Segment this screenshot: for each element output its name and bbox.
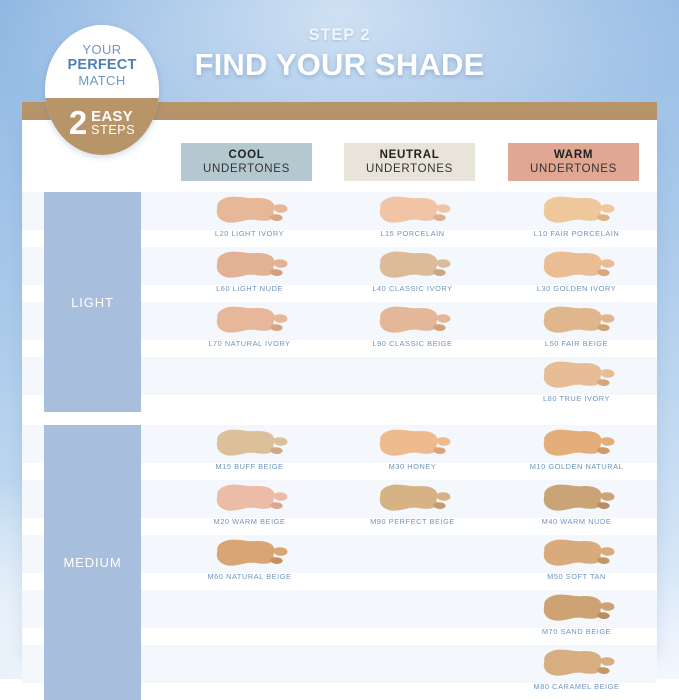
shade-cell[interactable]: L15 PORCELAINL15 PORCELAIN [331, 192, 494, 247]
shade-group-medium: MEDIUMM15 BUFF BEIGEM15 BUFF BEIGEM20 WA… [22, 425, 657, 700]
swatch-tail-lower [433, 324, 445, 331]
shade-swatch-graphic: L30 GOLDEN IVORY [536, 249, 618, 283]
shade-swatch-graphic: M30 HONEY [372, 427, 454, 461]
shade-cell[interactable]: M15 BUFF BEIGEM15 BUFF BEIGE [168, 425, 331, 480]
column-warm: L10 FAIR PORCELAINL10 FAIR PORCELAINL30 … [495, 192, 658, 412]
shade-name: L90 CLASSIC BEIGE [331, 339, 494, 348]
swatch-tail-upper [600, 204, 614, 212]
swatch-icon: L90 CLASSIC BEIGE [331, 302, 494, 340]
swatch-tail-lower [270, 269, 282, 276]
column-neutral: L15 PORCELAINL15 PORCELAINL40 CLASSIC IV… [331, 192, 494, 412]
swatch-body [543, 252, 601, 278]
shade-cell[interactable]: M40 WARM NUDEM40 WARM NUDE [495, 480, 658, 535]
shade-cell[interactable]: L30 GOLDEN IVORYL30 GOLDEN IVORY [495, 247, 658, 302]
swatch-tail-lower [597, 667, 609, 674]
swatch-body [379, 430, 437, 456]
shade-cell[interactable]: M70 SAND BEIGEM70 SAND BEIGE [495, 590, 658, 645]
shade-swatch-graphic: M60 NATURAL BEIGE [209, 537, 291, 571]
shade-swatch-graphic: L10 FAIR PORCELAIN [536, 194, 618, 228]
swatch-icon: L50 FAIR BEIGE [495, 302, 658, 340]
perfect-match-badge: YOUR PERFECT MATCH 2 EASY STEPS [45, 25, 159, 155]
shade-group-light: LIGHTL20 LIGHT IVORYL20 LIGHT IVORYL60 L… [22, 192, 657, 412]
shade-cell[interactable]: M50 SOFT TANM50 SOFT TAN [495, 535, 658, 590]
badge-top-half: YOUR PERFECT MATCH [45, 25, 159, 98]
swatch-body [543, 430, 601, 456]
shade-cell[interactable]: L80 TRUE IVORYL80 TRUE IVORY [495, 357, 658, 412]
shade-name: L70 NATURAL IVORY [168, 339, 331, 348]
swatch-tail-upper [273, 259, 287, 267]
badge-bottom-half: 2 EASY STEPS [45, 98, 159, 155]
swatch-tail-lower [433, 502, 445, 509]
swatch-icon: M40 WARM NUDE [495, 480, 658, 518]
shade-name: M30 HONEY [331, 462, 494, 471]
shade-cell[interactable]: M20 WARM BEIGEM20 WARM BEIGE [168, 480, 331, 535]
swatch-body [543, 540, 601, 566]
undertone-header-warm: WARM UNDERTONES [508, 143, 639, 181]
swatch-icon: M70 SAND BEIGE [495, 590, 658, 628]
swatch-icon: M50 SOFT TAN [495, 535, 658, 573]
swatch-tail-upper [600, 369, 614, 377]
swatch-tail-lower [270, 214, 282, 221]
shade-swatch-graphic: M90 PERFECT BEIGE [372, 482, 454, 516]
swatch-tail-lower [597, 557, 609, 564]
swatch-tail-upper [273, 437, 287, 445]
shade-name: M60 NATURAL BEIGE [168, 572, 331, 581]
shade-name: M10 GOLDEN NATURAL [495, 462, 658, 471]
shade-name: L40 CLASSIC IVORY [331, 284, 494, 293]
swatch-body [543, 362, 601, 388]
column-neutral: M30 HONEYM30 HONEYM90 PERFECT BEIGEM90 P… [331, 425, 494, 700]
shade-name: L10 FAIR PORCELAIN [495, 229, 658, 238]
swatch-tail-lower [597, 612, 609, 619]
shade-swatch-graphic: M20 WARM BEIGE [209, 482, 291, 516]
swatch-tail-upper [273, 547, 287, 555]
shade-swatch-graphic: L15 PORCELAIN [372, 194, 454, 228]
undertone-neutral-subtitle: UNDERTONES [366, 162, 453, 176]
swatch-tail-lower [433, 447, 445, 454]
shade-swatch-graphic: L40 CLASSIC IVORY [372, 249, 454, 283]
swatch-tail-upper [273, 314, 287, 322]
swatch-icon: M80 CARAMEL BEIGE [495, 645, 658, 683]
swatch-tail-lower [270, 324, 282, 331]
infographic-canvas: STEP 2 FIND YOUR SHADE COOL UNDERTONES N… [0, 0, 679, 679]
swatch-tail-lower [597, 502, 609, 509]
undertone-header-cool: COOL UNDERTONES [181, 143, 312, 181]
swatch-body [543, 307, 601, 333]
badge-easy-text: EASY [91, 109, 133, 124]
swatch-tail-upper [600, 492, 614, 500]
swatch-icon: L60 LIGHT NUDE [168, 247, 331, 285]
column-warm: M10 GOLDEN NATURALM10 GOLDEN NATURALM40 … [495, 425, 658, 700]
badge-your-text: YOUR [82, 43, 121, 58]
swatch-icon: L20 LIGHT IVORY [168, 192, 331, 230]
swatch-icon: L15 PORCELAIN [331, 192, 494, 230]
shade-swatch-graphic: M40 WARM NUDE [536, 482, 618, 516]
swatch-icon: L10 FAIR PORCELAIN [495, 192, 658, 230]
badge-steps-text: STEPS [91, 124, 135, 137]
swatch-body [216, 430, 274, 456]
column-cool: L20 LIGHT IVORYL20 LIGHT IVORYL60 LIGHT … [168, 192, 331, 412]
swatch-tail-upper [436, 314, 450, 322]
shade-cell[interactable]: M80 CARAMEL BEIGEM80 CARAMEL BEIGE [495, 645, 658, 700]
shade-name: L20 LIGHT IVORY [168, 229, 331, 238]
swatch-tail-upper [436, 492, 450, 500]
shade-swatch-graphic: M70 SAND BEIGE [536, 592, 618, 626]
swatch-icon: L70 NATURAL IVORY [168, 302, 331, 340]
undertone-neutral-title: NEUTRAL [380, 148, 440, 162]
swatch-tail-lower [597, 214, 609, 221]
swatch-tail-lower [433, 214, 445, 221]
shade-name: M20 WARM BEIGE [168, 517, 331, 526]
swatch-icon: M15 BUFF BEIGE [168, 425, 331, 463]
swatch-body [379, 307, 437, 333]
shade-swatch-graphic: M10 GOLDEN NATURAL [536, 427, 618, 461]
swatch-tail-lower [597, 447, 609, 454]
shade-name: M70 SAND BEIGE [495, 627, 658, 636]
shade-cell[interactable]: L40 CLASSIC IVORYL40 CLASSIC IVORY [331, 247, 494, 302]
undertone-header-neutral: NEUTRAL UNDERTONES [344, 143, 475, 181]
shade-name: M15 BUFF BEIGE [168, 462, 331, 471]
shade-cell[interactable]: M10 GOLDEN NATURALM10 GOLDEN NATURAL [495, 425, 658, 480]
swatch-tail-upper [436, 259, 450, 267]
shade-cell[interactable]: M30 HONEYM30 HONEY [331, 425, 494, 480]
shade-cell[interactable]: L10 FAIR PORCELAINL10 FAIR PORCELAIN [495, 192, 658, 247]
shade-cell[interactable]: L70 NATURAL IVORYL70 NATURAL IVORY [168, 302, 331, 357]
swatch-tail-upper [600, 437, 614, 445]
shade-swatch-graphic: L70 NATURAL IVORY [209, 304, 291, 338]
shade-name: L60 LIGHT NUDE [168, 284, 331, 293]
undertone-cool-title: COOL [228, 148, 264, 162]
shade-swatch-graphic: L60 LIGHT NUDE [209, 249, 291, 283]
swatch-icon: M10 GOLDEN NATURAL [495, 425, 658, 463]
badge-perfect-text: PERFECT [67, 57, 136, 74]
swatch-body [379, 197, 437, 223]
swatch-tail-upper [600, 602, 614, 610]
shade-swatch-graphic: L20 LIGHT IVORY [209, 194, 291, 228]
swatch-tail-upper [600, 657, 614, 665]
swatch-tail-lower [270, 557, 282, 564]
swatch-icon: L40 CLASSIC IVORY [331, 247, 494, 285]
swatch-tail-upper [600, 314, 614, 322]
swatch-tail-upper [436, 437, 450, 445]
swatch-icon: L30 GOLDEN IVORY [495, 247, 658, 285]
swatch-tail-upper [436, 204, 450, 212]
swatch-body [379, 252, 437, 278]
shade-name: L80 TRUE IVORY [495, 394, 658, 403]
swatch-tail-upper [600, 259, 614, 267]
swatch-tail-upper [273, 492, 287, 500]
swatch-body [543, 650, 601, 676]
shade-cell[interactable]: M60 NATURAL BEIGEM60 NATURAL BEIGE [168, 535, 331, 590]
column-cool: M15 BUFF BEIGEM15 BUFF BEIGEM20 WARM BEI… [168, 425, 331, 700]
shade-cell[interactable]: L60 LIGHT NUDEL60 LIGHT NUDE [168, 247, 331, 302]
swatch-body [543, 485, 601, 511]
group-columns: M15 BUFF BEIGEM15 BUFF BEIGEM20 WARM BEI… [22, 425, 657, 700]
swatch-tail-lower [433, 269, 445, 276]
swatch-body [543, 595, 601, 621]
group-columns: L20 LIGHT IVORYL20 LIGHT IVORYL60 LIGHT … [22, 192, 657, 412]
shade-swatch-graphic: L50 FAIR BEIGE [536, 304, 618, 338]
swatch-icon: L80 TRUE IVORY [495, 357, 658, 395]
badge-number-two: 2 [69, 108, 87, 137]
shade-swatch-graphic: M50 SOFT TAN [536, 537, 618, 571]
swatch-tail-lower [597, 379, 609, 386]
shade-name: L15 PORCELAIN [331, 229, 494, 238]
swatch-icon: M20 WARM BEIGE [168, 480, 331, 518]
swatch-icon: M90 PERFECT BEIGE [331, 480, 494, 518]
badge-steps-row: 2 EASY STEPS [69, 108, 135, 137]
swatch-tail-lower [270, 502, 282, 509]
swatch-body [216, 540, 274, 566]
swatch-tail-lower [270, 447, 282, 454]
swatch-body [543, 197, 601, 223]
shade-name: M90 PERFECT BEIGE [331, 517, 494, 526]
swatch-body [216, 485, 274, 511]
badge-match-text: MATCH [78, 74, 125, 89]
undertone-warm-subtitle: UNDERTONES [530, 162, 617, 176]
swatch-icon: M60 NATURAL BEIGE [168, 535, 331, 573]
shade-swatch-graphic: L80 TRUE IVORY [536, 359, 618, 393]
swatch-body [216, 197, 274, 223]
badge-easy-steps-stack: EASY STEPS [91, 109, 135, 137]
shade-swatch-graphic: M15 BUFF BEIGE [209, 427, 291, 461]
shade-name: L30 GOLDEN IVORY [495, 284, 658, 293]
shade-swatch-graphic: L90 CLASSIC BEIGE [372, 304, 454, 338]
swatch-tail-upper [600, 547, 614, 555]
shade-name: M40 WARM NUDE [495, 517, 658, 526]
undertone-cool-subtitle: UNDERTONES [203, 162, 290, 176]
shade-cell[interactable]: M90 PERFECT BEIGEM90 PERFECT BEIGE [331, 480, 494, 535]
shade-name: M50 SOFT TAN [495, 572, 658, 581]
swatch-body [379, 485, 437, 511]
shade-cell[interactable]: L90 CLASSIC BEIGEL90 CLASSIC BEIGE [331, 302, 494, 357]
shade-cell[interactable]: L50 FAIR BEIGEL50 FAIR BEIGE [495, 302, 658, 357]
shade-chart-card: COOL UNDERTONES NEUTRAL UNDERTONES WARM … [22, 120, 657, 655]
shade-name: M80 CARAMEL BEIGE [495, 682, 658, 691]
shade-name: L50 FAIR BEIGE [495, 339, 658, 348]
swatch-body [216, 252, 274, 278]
swatch-body [216, 307, 274, 333]
undertone-warm-title: WARM [554, 148, 593, 162]
swatch-tail-lower [597, 324, 609, 331]
swatch-tail-upper [273, 204, 287, 212]
swatch-icon: M30 HONEY [331, 425, 494, 463]
shade-swatch-graphic: M80 CARAMEL BEIGE [536, 647, 618, 681]
shade-cell[interactable]: L20 LIGHT IVORYL20 LIGHT IVORY [168, 192, 331, 247]
swatch-tail-lower [597, 269, 609, 276]
